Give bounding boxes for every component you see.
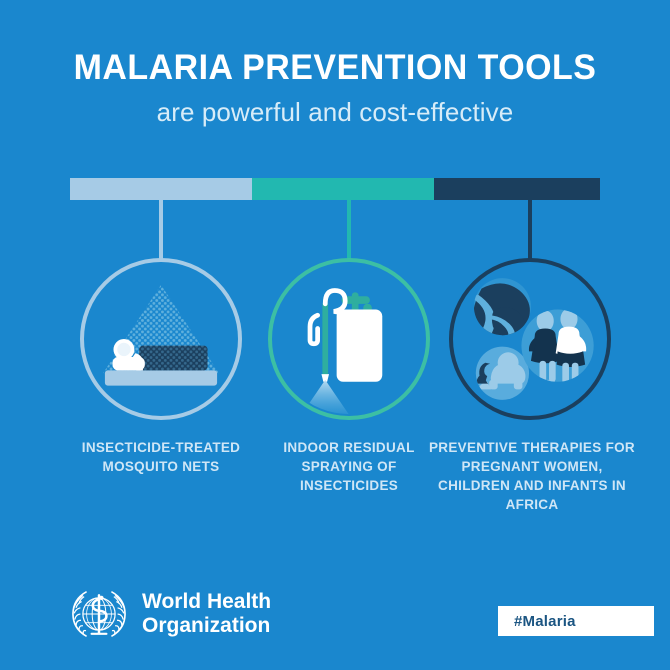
hashtag-badge[interactable]: #Malaria [498,606,654,636]
page-title: MALARIA PREVENTION TOOLS [10,50,660,87]
who-logo: World Health Organization [68,583,271,645]
connector-line-therapies [528,198,532,260]
tool-label-therapies: PREVENTIVE THERAPIES FOR PREGNANT WOMEN,… [428,438,636,515]
segmented-bar [70,178,600,200]
tool-label-nets: INSECTICIDE-TREATED MOSQUITO NETS [55,438,267,476]
bed-net-icon [84,262,238,416]
pregnant-woman-and-children-icon [453,262,607,416]
connector-line-nets [159,198,163,260]
who-emblem-icon [68,583,130,645]
insecticide-sprayer-circle [268,258,430,420]
insecticide-sprayer-icon [272,262,426,416]
connector-line-spraying [347,198,351,260]
page-subtitle: are powerful and cost-effective [0,97,670,128]
infographic-poster: MALARIA PREVENTION TOOLS are powerful an… [0,0,670,670]
who-line-2: Organization [142,614,271,638]
tool-label-spraying: INDOOR RESIDUAL SPRAYING OF INSECTICIDES [258,438,440,495]
preventive-therapies-circle [449,258,611,420]
bed-net-circle [80,258,242,420]
hashtag-label: #Malaria [498,613,576,630]
bar-segment-nets [70,178,252,200]
header: MALARIA PREVENTION TOOLS are powerful an… [0,50,670,128]
bar-segment-spraying [252,178,434,200]
who-wordmark: World Health Organization [142,590,271,637]
bar-segment-therapies [434,178,600,200]
who-line-1: World Health [142,590,271,614]
